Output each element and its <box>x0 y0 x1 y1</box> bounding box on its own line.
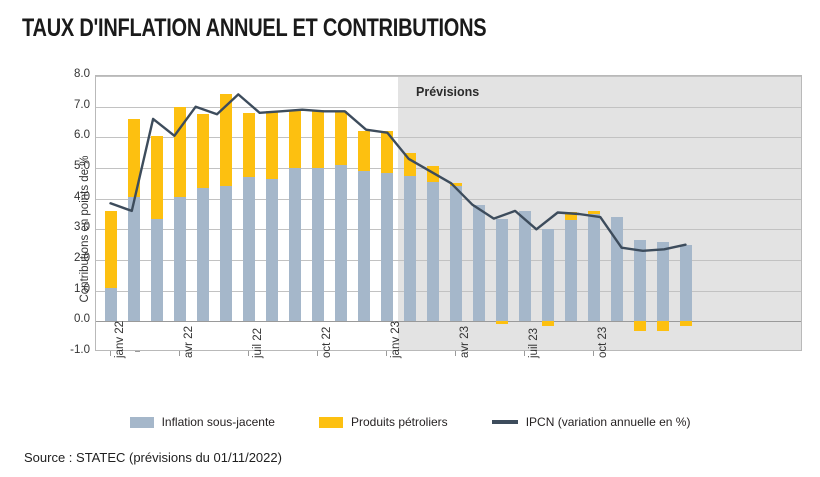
legend-line-swatch <box>492 420 518 424</box>
x-axis-tick-label: juil 23 <box>529 328 541 358</box>
y-axis-tick-label: 3.0 <box>50 222 90 234</box>
legend-label: Inflation sous-jacente <box>162 415 275 429</box>
x-axis-tick-label: janv 23 <box>391 321 403 358</box>
y-axis-tick-label: 7.0 <box>50 100 90 112</box>
x-axis-tick-mark <box>248 351 249 356</box>
y-axis-tick-label: -1.0 <box>50 345 90 357</box>
x-axis-tick-mark <box>593 351 594 356</box>
legend-oil: Produits pétroliers <box>319 415 448 429</box>
x-axis-tick-label: oct 23 <box>598 327 610 358</box>
legend-ipcn: IPCN (variation annuelle en %) <box>492 415 691 429</box>
y-axis-tick-label: 2.0 <box>50 253 90 265</box>
y-axis-tick-label: 5.0 <box>50 161 90 173</box>
y-axis-tick-label: 6.0 <box>50 130 90 142</box>
x-axis-tick-mark <box>179 351 180 356</box>
x-axis-tick-label: janv 22 <box>115 321 127 358</box>
y-axis-tick-label: 4.0 <box>50 192 90 204</box>
y-axis-tick-mark <box>135 351 140 352</box>
x-axis-tick-label: avr 22 <box>184 326 196 358</box>
x-axis-tick-label: oct 22 <box>322 327 334 358</box>
legend-label: Produits pétroliers <box>351 415 448 429</box>
legend-label: IPCN (variation annuelle en %) <box>526 415 691 429</box>
y-axis-tick-label: 0.0 <box>50 314 90 326</box>
chart-legend: Inflation sous-jacenteProduits pétrolier… <box>0 415 820 429</box>
x-axis-tick-mark <box>386 351 387 356</box>
ipcn-line-series <box>96 76 802 351</box>
x-axis-tick-label: avr 23 <box>460 326 472 358</box>
x-axis-tick-mark <box>524 351 525 356</box>
forecast-annotation: Prévisions <box>416 85 479 99</box>
y-axis-tick-label: 1.0 <box>50 284 90 296</box>
x-axis-tick-mark <box>110 351 111 356</box>
legend-color-swatch <box>319 417 343 428</box>
y-axis: Contributions en points de % 8.07.06.05.… <box>45 75 90 351</box>
legend-core: Inflation sous-jacente <box>130 415 275 429</box>
x-axis-tick-mark <box>455 351 456 356</box>
x-axis-tick-label: juil 22 <box>253 328 265 358</box>
y-axis-tick-label: 8.0 <box>50 69 90 81</box>
x-axis-tick-mark <box>317 351 318 356</box>
legend-color-swatch <box>130 417 154 428</box>
source-note: Source : STATEC (prévisions du 01/11/202… <box>24 450 282 465</box>
plot-area <box>95 75 802 351</box>
inflation-contributions-chart: Contributions en points de % 8.07.06.05.… <box>0 0 820 477</box>
